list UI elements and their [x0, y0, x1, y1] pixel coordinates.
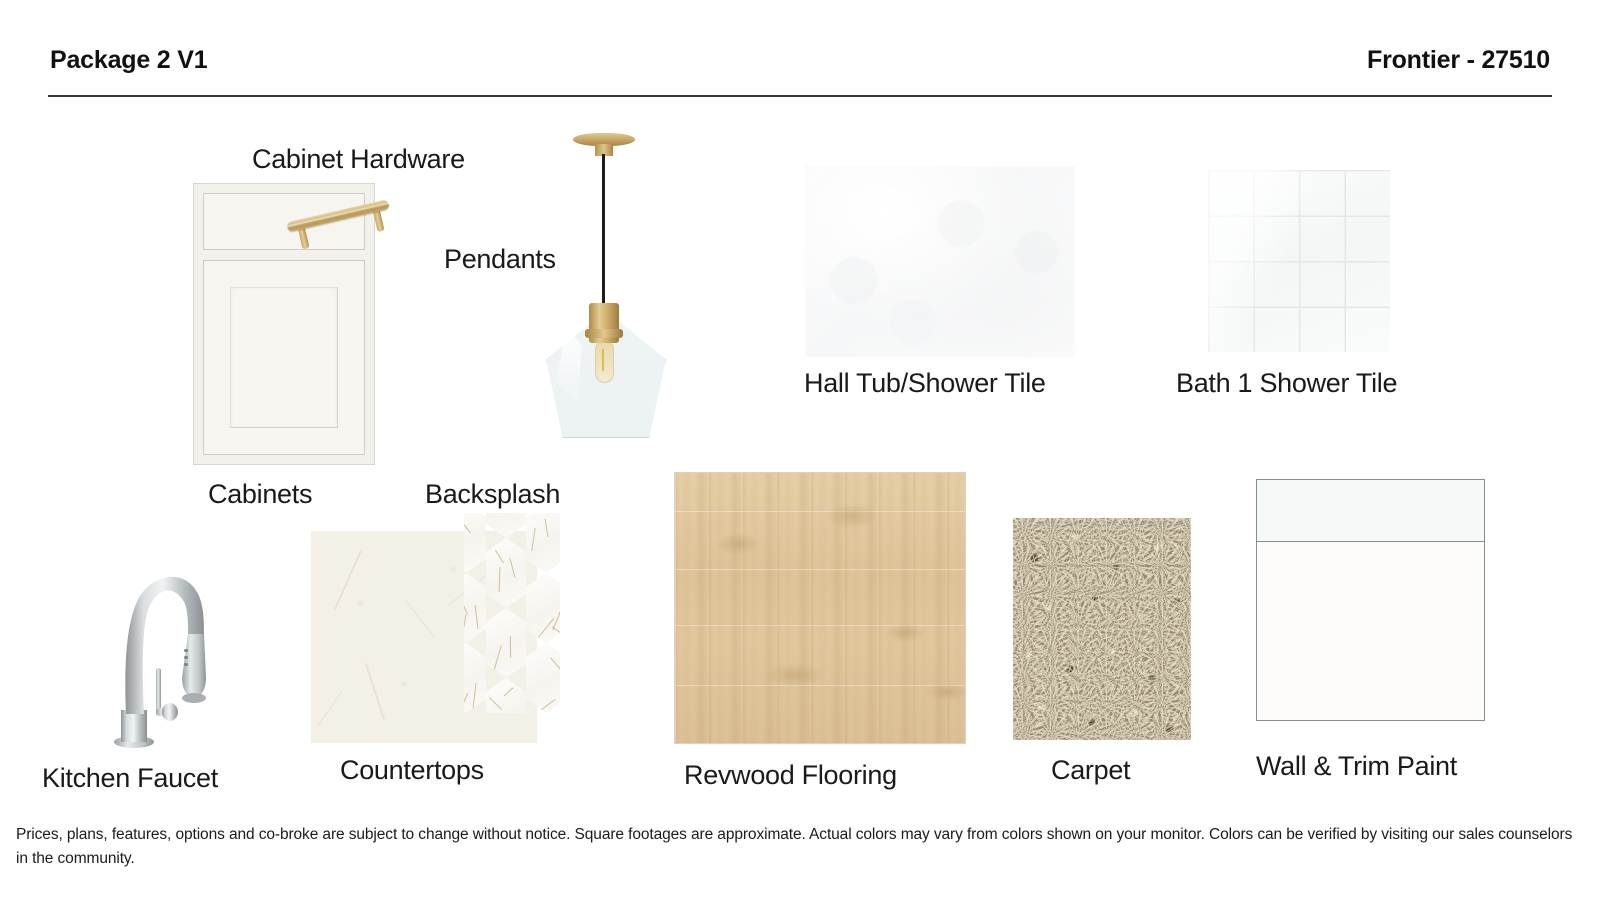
- picket-tile-vein: [464, 597, 468, 615]
- design-package-board: Package 2 V1 Frontier - 27510: [0, 0, 1600, 900]
- carpet-fleck-layer-2: [1013, 518, 1191, 740]
- wood-grain-knot: [765, 663, 825, 687]
- label-cabinet-hardware: Cabinet Hardware: [252, 146, 465, 173]
- bath-1-shower-tile-swatch[interactable]: [1208, 170, 1390, 352]
- board-header: Package 2 V1 Frontier - 27510: [0, 0, 1600, 100]
- label-hall-tub-shower-tile: Hall Tub/Shower Tile: [804, 370, 1046, 397]
- picket-tile: [464, 643, 486, 713]
- picket-tile: [526, 643, 560, 713]
- paint-swatch[interactable]: [1256, 479, 1485, 721]
- picket-tile-vein: [464, 693, 469, 713]
- wood-grain-knot: [715, 533, 761, 555]
- disclaimer-text: Prices, plans, features, options and co-…: [16, 823, 1584, 871]
- picket-marble-tile-swatch[interactable]: [464, 513, 560, 713]
- bar-pull-post-left: [298, 226, 310, 249]
- picket-tile-vein: [504, 687, 514, 696]
- label-bath-1-shower-tile: Bath 1 Shower Tile: [1176, 370, 1397, 397]
- picket-tile: [464, 513, 486, 573]
- wood-plank-seam: [675, 625, 965, 626]
- wood-grain-knot: [925, 683, 969, 701]
- picket-tile: [464, 573, 486, 643]
- pendant-socket-ring: [585, 329, 623, 338]
- community-plan-label: Frontier - 27510: [1367, 46, 1550, 75]
- wood-grain-knot: [825, 503, 879, 529]
- cabinet-door-panel: [230, 287, 338, 428]
- picket-tile-vein: [535, 618, 555, 642]
- picket-tile-vein: [531, 528, 536, 551]
- picket-tile: [486, 608, 526, 678]
- pulldown-kitchen-faucet-icon[interactable]: [100, 518, 250, 750]
- picket-tile-vein: [464, 519, 471, 533]
- label-carpet: Carpet: [1051, 757, 1130, 784]
- picket-tile-vein: [529, 699, 555, 713]
- tile-surface-mottle: [806, 167, 1074, 356]
- picket-tile: [486, 678, 526, 713]
- picket-tile: [526, 513, 560, 573]
- pendant-filament: [602, 349, 604, 371]
- label-backsplash: Backsplash: [425, 481, 560, 508]
- trim-paint-chip: [1256, 479, 1485, 542]
- picket-tile-vein: [499, 567, 501, 592]
- label-countertops: Countertops: [340, 757, 484, 784]
- picket-tile-vein: [545, 519, 549, 537]
- wood-plank-seam: [675, 685, 965, 686]
- picket-tile-vein: [550, 657, 560, 669]
- picket-tile-vein: [493, 645, 502, 671]
- hall-tub-shower-tile-swatch[interactable]: [806, 167, 1074, 356]
- label-revwood-flooring: Revwood Flooring: [684, 762, 897, 789]
- label-kitchen-faucet: Kitchen Faucet: [42, 765, 218, 792]
- picket-tile-vein: [510, 636, 512, 658]
- wood-grain-knot: [885, 623, 925, 643]
- wood-plank-seam: [675, 569, 965, 570]
- picket-tile-vein: [509, 558, 516, 578]
- picket-tile: [486, 538, 526, 608]
- picket-tile: [526, 573, 560, 643]
- wood-plank-seam: [675, 511, 965, 512]
- picket-tile: [486, 513, 526, 538]
- tile-sheen: [1208, 170, 1390, 352]
- picket-tile-vein: [489, 697, 502, 710]
- wall-paint-chip: [1256, 541, 1485, 721]
- pendant-bulb: [595, 341, 614, 383]
- bar-pull-post-right: [373, 209, 385, 232]
- glass-pendant-light-icon[interactable]: [540, 133, 670, 443]
- header-divider: [48, 95, 1552, 97]
- carpet-swatch[interactable]: [1013, 518, 1191, 740]
- revwood-flooring-swatch[interactable]: [674, 472, 966, 744]
- picket-tile-vein: [464, 614, 467, 643]
- picket-tile-vein: [475, 605, 479, 629]
- label-cabinets: Cabinets: [208, 481, 312, 508]
- picket-tile-vein: [472, 683, 477, 709]
- picket-tile-vein: [495, 550, 504, 563]
- label-pendants: Pendants: [444, 246, 556, 273]
- page-title: Package 2 V1: [50, 46, 207, 75]
- cabinet-door-frame: [203, 260, 365, 455]
- pendant-cord: [602, 154, 605, 306]
- label-wall-trim-paint: Wall & Trim Paint: [1256, 753, 1457, 780]
